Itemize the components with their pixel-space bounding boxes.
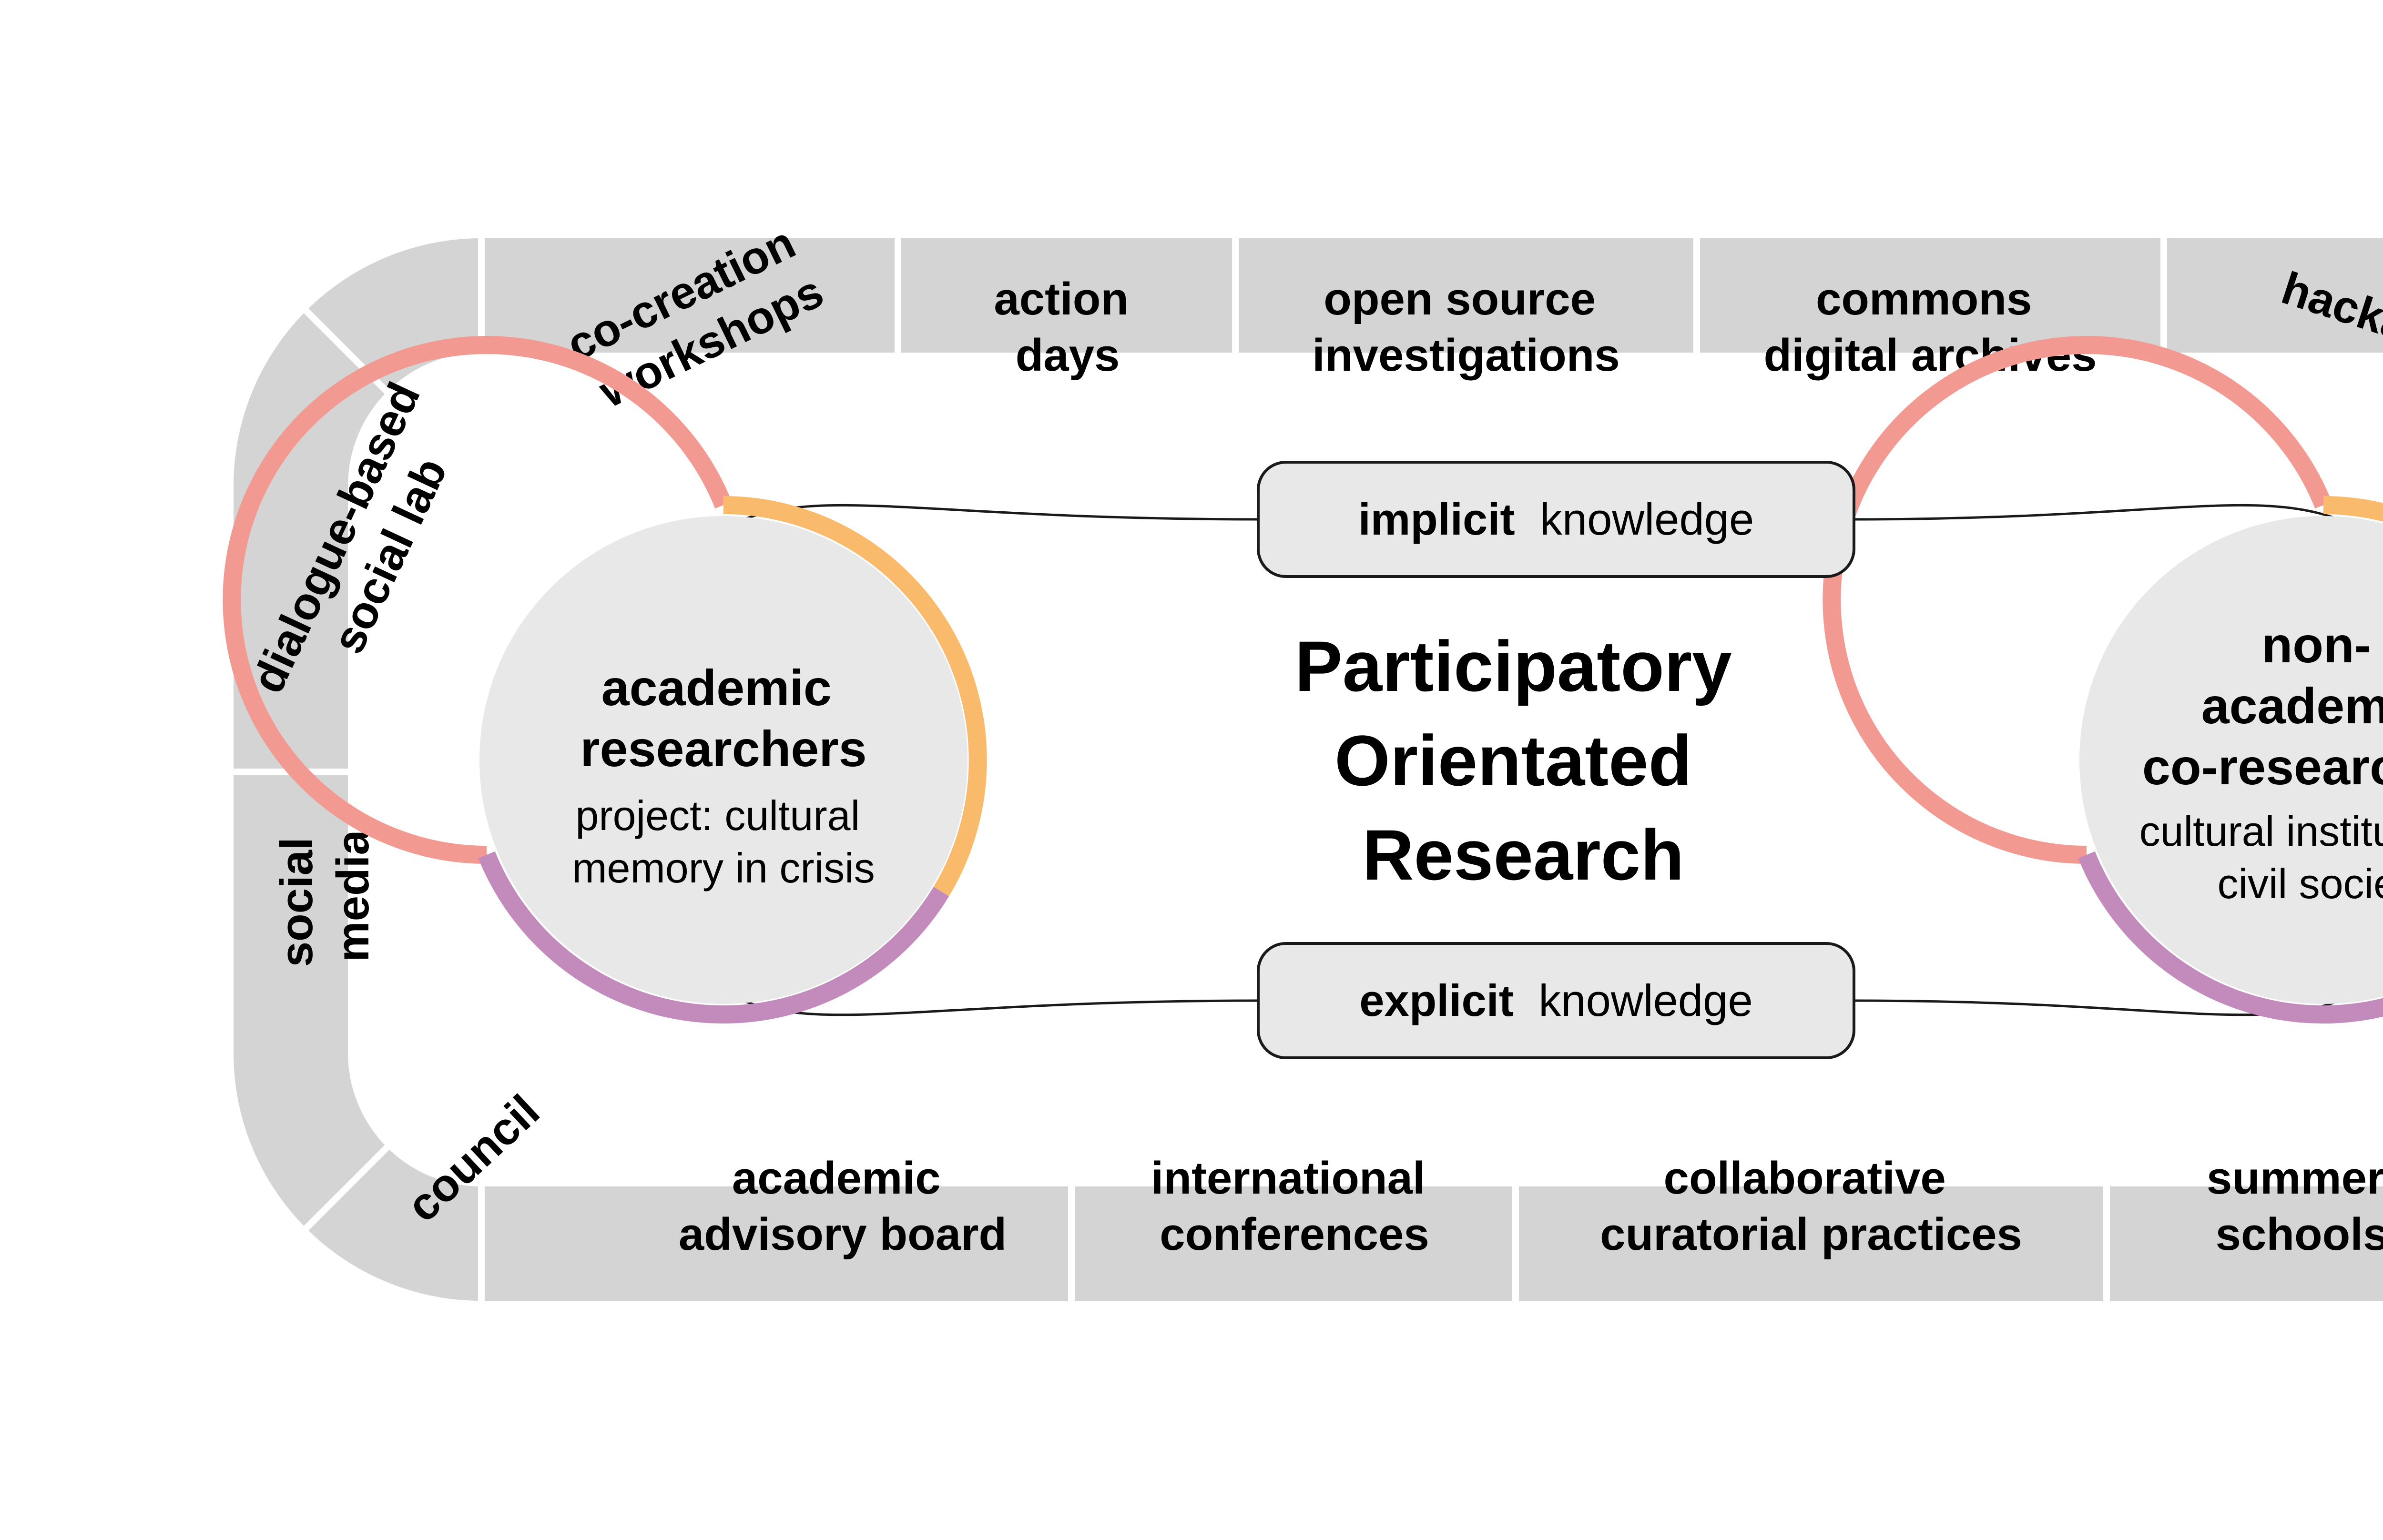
segment-label-line: media <box>327 830 378 962</box>
segment-label-line: summer <box>2207 1153 2383 1204</box>
pill-explicit-knowledge[interactable]: explicit knowledge <box>1258 943 1854 1058</box>
segment-label-line: social <box>271 837 322 967</box>
center-title-line: Research <box>1362 815 1684 895</box>
center-title: Participatory Orientated Research <box>1295 626 1752 895</box>
ring-body <box>0 0 2383 1540</box>
segment-label-line: days <box>1016 330 1120 381</box>
node-subtitle-line: cultural institutions, <box>2139 808 2383 855</box>
segment-label-line: schools <box>2216 1209 2383 1260</box>
svg-text:Participatory Orientated: Participatory Orientated Research <box>1295 626 1752 895</box>
pill-text-regular: knowledge <box>1540 494 1754 544</box>
segment-label-line: advisory board <box>679 1209 1007 1260</box>
pill-implicit-knowledge[interactable]: implicit knowledge <box>1258 462 1854 577</box>
segment-label-line: collaborative <box>1664 1153 1946 1204</box>
node-title-line: academic <box>601 660 832 716</box>
participatory-research-diagram: co-creation workshops action days open s… <box>0 0 2383 1540</box>
segment-label-line: curatorial practices <box>1600 1209 2022 1260</box>
diagram-canvas: co-creation workshops action days open s… <box>0 0 2383 1540</box>
node-title-line: researchers <box>580 721 866 777</box>
segment-label-line: commons <box>1816 274 2032 324</box>
node-title-line: academic <box>2201 678 2383 734</box>
node-subtitle-line: memory in crisis <box>572 844 875 892</box>
node-subtitle-line: civil society <box>2218 860 2383 907</box>
center-title-line: Participatory <box>1295 626 1732 706</box>
node-title-line: non- <box>2262 617 2372 673</box>
segment-label-line: investigations <box>1312 330 1619 381</box>
outer-track-ring <box>0 0 2383 1540</box>
segment-label-line: conferences <box>1160 1209 1429 1260</box>
pill-text: implicit knowledge <box>1358 494 1754 544</box>
node-subtitle-line: project: cultural <box>575 792 860 839</box>
pill-text-bold: explicit <box>1359 975 1514 1025</box>
segment-label-line: open source <box>1324 274 1596 324</box>
center-title-line: Orientated <box>1334 720 1692 800</box>
node-title-line: co-researchers <box>2142 739 2383 795</box>
segment-label-line: action <box>994 274 1129 324</box>
pill-text: explicit knowledge <box>1359 975 1752 1025</box>
pill-text-regular: knowledge <box>1538 975 1752 1025</box>
segment-label-line: international <box>1151 1153 1426 1204</box>
pill-text-bold: implicit <box>1358 494 1515 544</box>
segment-label-line: academic <box>732 1153 941 1204</box>
